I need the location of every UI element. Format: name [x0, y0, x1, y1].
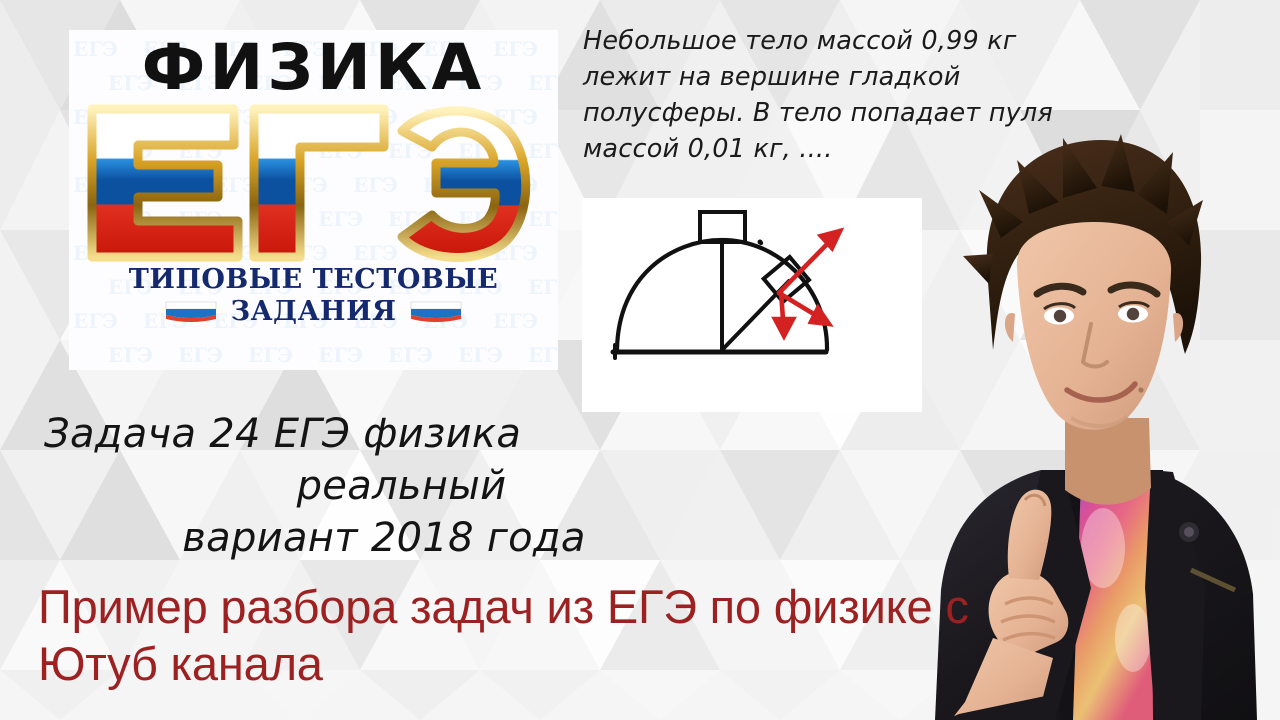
banner-line-1: Пример разбора задач из ЕГЭ по физике с [38, 578, 1268, 635]
book-cover-image: ЕГЭЕГЭЕГЭЕГЭЕГЭЕГЭЕГЭ ЕГЭЕГЭЕГЭЕГЭЕГЭЕГЭ… [69, 30, 558, 370]
slide-title: Задача 24 ЕГЭ физика реальный вариант 20… [44, 408, 664, 564]
title-line-3: вариант 2018 года [44, 512, 664, 564]
book-subtitle-line2: ЗАДАНИЯ [231, 296, 397, 327]
book-ege-logo [84, 95, 544, 270]
book-title: ФИЗИКА [69, 36, 558, 99]
book-subtitle-line1: ТИПОВЫЕ ТЕСТОВЫЕ [129, 266, 498, 295]
flag-icon-left [165, 301, 217, 322]
hemisphere-diagram [582, 198, 922, 412]
banner-text: Пример разбора задач из ЕГЭ по физике с … [38, 578, 1268, 692]
physics-diagram-panel [582, 198, 922, 412]
banner-line-2: Ютуб канала [38, 635, 1268, 692]
title-line-1: Задача 24 ЕГЭ физика [44, 408, 664, 460]
title-line-2: реальный [44, 460, 664, 512]
flag-icon-right [410, 301, 462, 322]
